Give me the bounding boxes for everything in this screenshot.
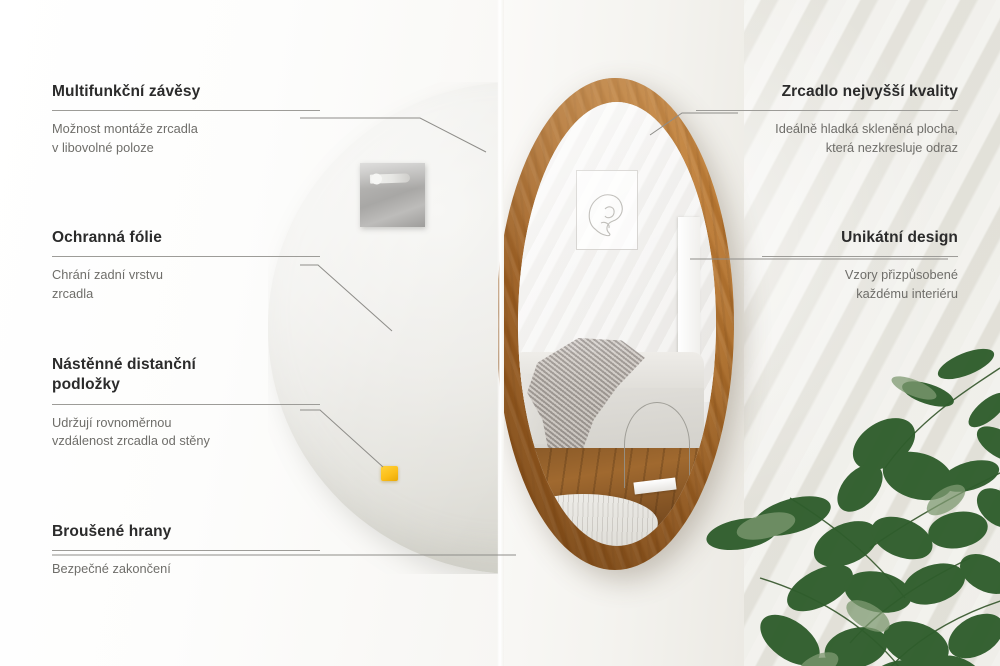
feature-description: Chrání zadní vrstvu zrcadla bbox=[52, 266, 320, 303]
feature-title: Ochranná fólie bbox=[52, 228, 320, 248]
feature-label-multifunkcni-zavesy: Multifunkční závěsy Možnost montáže zrca… bbox=[52, 82, 320, 158]
feature-rule bbox=[52, 404, 320, 405]
feature-desc-line: Ideálně hladká skleněná plocha, bbox=[775, 121, 958, 136]
hanger-plate-icon bbox=[360, 163, 425, 227]
feature-description: Možnost montáže zrcadla v libovolné polo… bbox=[52, 120, 320, 157]
feature-rule bbox=[52, 256, 320, 257]
feature-title: Nástěnné distanční podložky bbox=[52, 355, 320, 396]
feature-title: Broušené hrany bbox=[52, 522, 320, 542]
feature-rule bbox=[52, 110, 320, 111]
infographic-stage: Multifunkční závěsy Možnost montáže zrca… bbox=[0, 0, 1000, 666]
feature-rule bbox=[696, 110, 958, 111]
feature-desc-line: v libovolné poloze bbox=[52, 140, 154, 155]
spacer-pad-icon bbox=[381, 466, 398, 481]
feature-desc-line: Možnost montáže zrcadla bbox=[52, 121, 198, 136]
feature-desc-line: zrcadla bbox=[52, 286, 93, 301]
feature-rule bbox=[52, 550, 320, 551]
feature-description: Ideálně hladká skleněná plocha, která ne… bbox=[696, 120, 958, 157]
feature-desc-line: vzdálenost zrcadla od stěny bbox=[52, 433, 210, 448]
feature-title-line: podložky bbox=[52, 376, 120, 393]
feature-desc-line: Chrání zadní vrstvu bbox=[52, 267, 163, 282]
feature-title: Zrcadlo nejvyšší kvality bbox=[696, 82, 958, 102]
feature-title: Unikátní design bbox=[762, 228, 958, 248]
feature-desc-line: která nezkresluje odraz bbox=[826, 140, 958, 155]
feature-title: Multifunkční závěsy bbox=[52, 82, 320, 102]
feature-desc-line: Vzory přizpůsobené bbox=[845, 267, 958, 282]
feature-label-brousene-hrany: Broušené hrany Bezpečné zakončení bbox=[52, 522, 320, 579]
plant-leaves-icon bbox=[670, 336, 1000, 666]
feature-title-line: Nástěnné distanční bbox=[52, 356, 196, 373]
feature-label-nastenne-distancni-podlozky: Nástěnné distanční podložky Udržují rovn… bbox=[52, 355, 320, 451]
hanger-keyhole-slot bbox=[370, 173, 410, 183]
feature-description: Udržují rovnoměrnou vzdálenost zrcadla o… bbox=[52, 414, 320, 451]
feature-desc-line: Udržují rovnoměrnou bbox=[52, 415, 172, 430]
feature-label-unikatni-design: Unikátní design Vzory přizpůsobené každé… bbox=[762, 228, 958, 304]
feature-rule bbox=[762, 256, 958, 257]
feature-description: Vzory přizpůsobené každému interiéru bbox=[762, 266, 958, 303]
feature-label-ochranna-folie: Ochranná fólie Chrání zadní vrstvu zrcad… bbox=[52, 228, 320, 304]
panel-seam bbox=[497, 0, 504, 666]
feature-label-zrcadlo-nejvyssi-kvality: Zrcadlo nejvyšší kvality Ideálně hladká … bbox=[696, 82, 958, 158]
feature-description: Bezpečné zakončení bbox=[52, 560, 320, 579]
feature-desc-line: každému interiéru bbox=[856, 286, 958, 301]
